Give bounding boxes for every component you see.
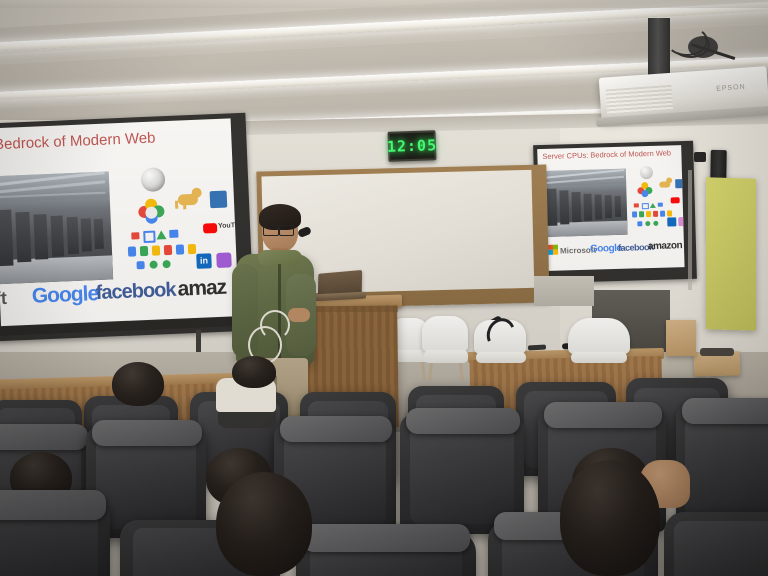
- clock-time: 12:05: [387, 136, 438, 156]
- mascot-cat-icon: [173, 188, 202, 211]
- microsoft-logo-icon: [548, 245, 558, 255]
- amazon-logo: amazon: [648, 240, 683, 252]
- app-icon: [140, 246, 148, 256]
- audience-head: [232, 356, 276, 388]
- blue-app-icon: [210, 191, 228, 209]
- eyeglasses-left-lens: [263, 225, 279, 236]
- app-icon: [143, 231, 155, 243]
- audience-head: [216, 472, 312, 576]
- slide-left: PUs: Bedrock of Modern Web: [0, 118, 239, 326]
- seat-headrest: [406, 408, 520, 434]
- google-cloud-icon: [136, 197, 167, 228]
- digital-wall-clock: 12:05: [387, 130, 436, 162]
- projection-screen-left: PUs: Bedrock of Modern Web: [0, 113, 254, 342]
- projector-brand-label: EPSON: [716, 84, 746, 93]
- app-icon: [136, 261, 144, 269]
- remote-control[interactable]: [528, 345, 546, 351]
- eyeglasses-right-lens: [279, 225, 294, 236]
- app-icon: [162, 260, 170, 268]
- google-logo: Google: [31, 282, 98, 309]
- cable-loop: [260, 310, 290, 340]
- seat-headrest: [544, 402, 662, 428]
- wikipedia-globe-icon: [141, 167, 166, 192]
- seat-headrest: [682, 398, 768, 424]
- wall-ledge: [534, 276, 594, 306]
- app-icon: [642, 203, 649, 209]
- gmail-icon: [634, 203, 639, 207]
- drive-icon: [156, 230, 166, 239]
- youtube-icon: [671, 197, 680, 203]
- blue-app-icon: [675, 179, 684, 188]
- app-icon: [645, 221, 650, 226]
- app-icon: [653, 211, 658, 217]
- app-icon: [152, 245, 160, 255]
- seat-headrest: [302, 524, 470, 552]
- app-icon: [164, 245, 172, 255]
- amazon-logo: amaz: [177, 276, 226, 302]
- slide-right: Server CPUs: Bedrock of Modern Web: [537, 145, 684, 271]
- app-icon: [637, 221, 642, 226]
- google-logo: Google: [590, 243, 622, 255]
- seat-headrest: [0, 424, 88, 450]
- wall-cabinet: [666, 320, 696, 356]
- app-icon: [128, 246, 136, 256]
- seat-headrest: [92, 420, 202, 446]
- app-icon: [678, 217, 684, 226]
- google-cloud-icon: [636, 182, 653, 199]
- gmail-icon: [131, 232, 139, 239]
- app-icon: [176, 244, 184, 254]
- app-icon: [653, 221, 658, 226]
- seat-headrest: [280, 416, 392, 442]
- wall-trim: [688, 170, 692, 290]
- linkedin-icon: [667, 217, 676, 226]
- eyeglasses-bridge: [276, 228, 280, 230]
- slide-right-title: Server CPUs: Bedrock of Modern Web: [542, 148, 671, 161]
- audience-head: [560, 460, 660, 576]
- wikipedia-globe-icon: [640, 166, 653, 179]
- lecture-hall-photo: EPSON PUs: Bedrock of Modern Web: [0, 0, 768, 576]
- audience-seat[interactable]: [664, 512, 768, 576]
- microsoft-logo: oft: [0, 288, 7, 310]
- acoustic-panel: [706, 177, 756, 330]
- logo-cluster: YouTube in: [123, 164, 232, 268]
- app-icon: [188, 244, 196, 254]
- projection-screen-right: Server CPUs: Bedrock of Modern Web: [533, 141, 697, 283]
- datacenter-photo: [544, 169, 628, 237]
- box-contents: [700, 348, 734, 356]
- app-icon: [632, 211, 637, 217]
- app-icon: [667, 210, 672, 216]
- presenter-hand: [288, 308, 310, 322]
- mascot-cat-icon: [657, 177, 672, 189]
- app-icon: [169, 230, 178, 238]
- app-icon: [646, 211, 651, 217]
- youtube-icon: [203, 223, 217, 234]
- seat-headrest: [0, 490, 106, 520]
- app-icon: [658, 203, 663, 207]
- speaker-bracket: [694, 152, 706, 162]
- app-icon: [149, 261, 157, 269]
- audience-head: [112, 362, 164, 406]
- slide-left-title: PUs: Bedrock of Modern Web: [0, 129, 156, 154]
- linkedin-icon: in: [196, 253, 212, 269]
- drive-icon: [650, 203, 656, 208]
- datacenter-photo: [0, 171, 113, 285]
- logo-cluster: [630, 165, 682, 228]
- app-icon: [639, 211, 644, 217]
- facebook-logo: facebook: [95, 279, 176, 305]
- app-icon: [660, 211, 665, 217]
